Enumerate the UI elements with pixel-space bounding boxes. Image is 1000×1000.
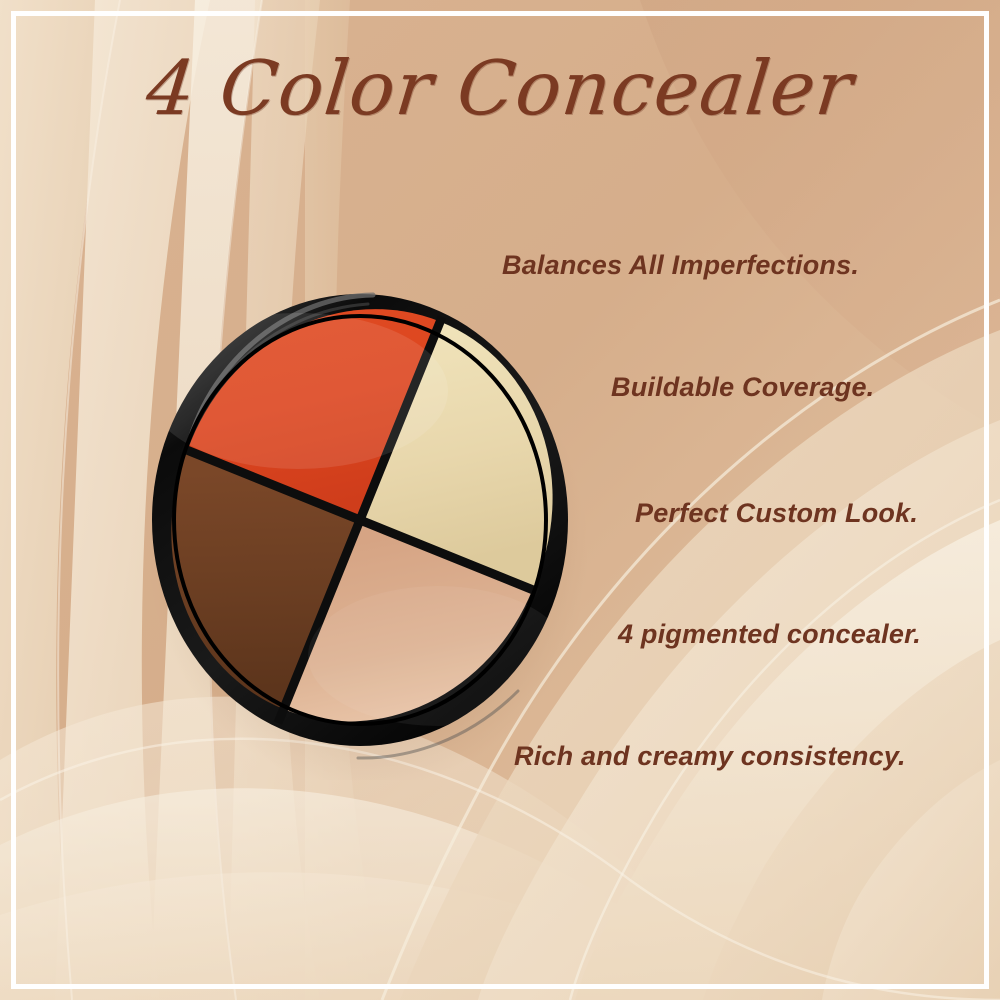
feature-item: Rich and creamy consistency. (514, 741, 906, 772)
product-poster: 4 Color Concealer (0, 0, 1000, 1000)
feature-item: Balances All Imperfections. (502, 250, 859, 281)
feature-item: Buildable Coverage. (611, 372, 874, 403)
feature-list: Balances All Imperfections. Buildable Co… (480, 230, 980, 800)
page-title: 4 Color Concealer (0, 44, 1000, 132)
feature-item: 4 pigmented concealer. (618, 619, 921, 650)
feature-item: Perfect Custom Look. (635, 498, 918, 529)
